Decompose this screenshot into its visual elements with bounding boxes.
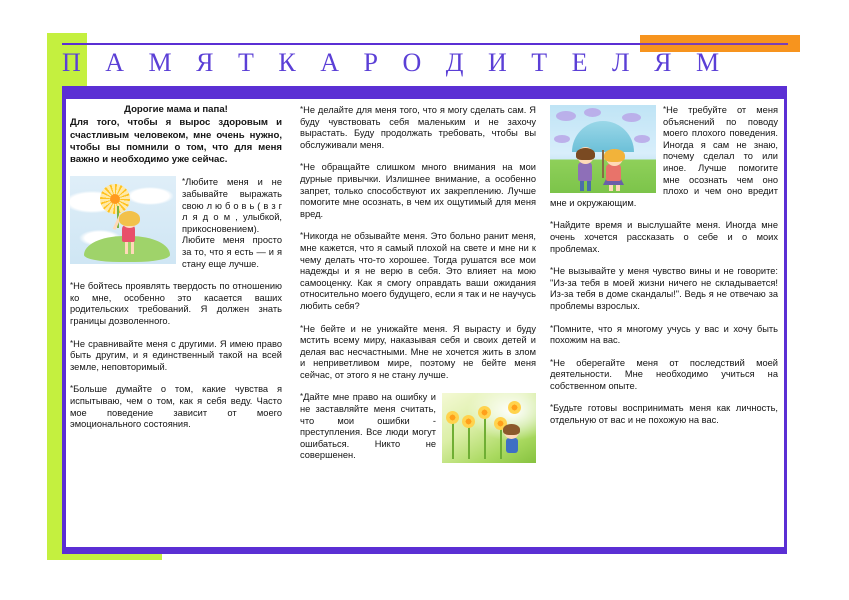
paragraph-text: Не вызывайте у меня чувство вины и не го… bbox=[550, 266, 778, 311]
paragraph: *Больше думайте о том, какие чувства я и… bbox=[70, 383, 282, 430]
paragraph: *Не обращайте слишком много внимания на … bbox=[300, 161, 536, 220]
paragraph-text: Не обращайте слишком много внимания на м… bbox=[300, 162, 536, 218]
document-page: П А М Я Т К А Р О Д И Т Е Л Я М Дорогие … bbox=[0, 0, 849, 600]
daffodil-stem-shape bbox=[468, 423, 470, 459]
paragraph-text: Не бейте и не унижайте меня. Я вырасту и… bbox=[300, 324, 536, 380]
daffodil-bloom-shape bbox=[446, 411, 459, 424]
daffodil-bloom-shape bbox=[462, 415, 475, 428]
column-one: Дорогие мама и папа! Для того, чтобы я в… bbox=[70, 104, 286, 548]
girl-body-shape bbox=[606, 164, 621, 181]
cloud-shape bbox=[622, 113, 641, 122]
paragraph: *Не бойтесь проявлять твердость по отнош… bbox=[70, 280, 282, 327]
paragraph-text: Найдите время и выслушайте меня. Иногда … bbox=[550, 220, 778, 253]
daffodil-bloom-shape bbox=[478, 406, 491, 419]
intro-lead: Дорогие мама и папа! bbox=[70, 104, 282, 116]
paragraph-text: Будьте готовы воспринимать меня как личн… bbox=[550, 403, 778, 425]
child-body-shape bbox=[506, 438, 518, 453]
content-columns: Дорогие мама и папа! Для того, чтобы я в… bbox=[70, 104, 782, 548]
child-hair-shape bbox=[503, 424, 520, 435]
paragraph: *Никогда не обзывайте меня. Это больно р… bbox=[300, 230, 536, 312]
paragraph: *Будьте готовы воспринимать меня как лич… bbox=[550, 402, 778, 426]
daffodil-stem-shape bbox=[500, 425, 502, 459]
daffodil-stem-shape bbox=[484, 415, 486, 459]
paragraph-text: Не делайте для меня того, что я могу сде… bbox=[300, 105, 536, 150]
paragraph-text: Любите меня и не забывайте выражать свою… bbox=[182, 177, 282, 268]
paragraph: *Не делайте для меня того, что я могу сд… bbox=[300, 104, 536, 151]
cloud-shape bbox=[554, 135, 570, 143]
children-under-umbrella-illustration bbox=[550, 105, 656, 193]
paragraph-text: Не бойтесь проявлять твердость по отноше… bbox=[70, 281, 282, 326]
boy-hair-shape bbox=[576, 148, 595, 160]
paragraph-text: Помните, что я многому учусь у вас и хоч… bbox=[550, 324, 778, 346]
column-two: *Не делайте для меня того, что я могу сд… bbox=[300, 104, 536, 548]
girl-hair-shape bbox=[604, 149, 625, 162]
paragraph: *Не оберегайте меня от последствий моей … bbox=[550, 357, 778, 393]
girl-body-shape bbox=[122, 225, 135, 242]
paragraph: *Не вызывайте у меня чувство вины и не г… bbox=[550, 265, 778, 312]
paragraph: *Не бейте и не унижайте меня. Я вырасту … bbox=[300, 323, 536, 382]
cloud-shape bbox=[634, 135, 650, 143]
girl-leg-right-shape bbox=[131, 241, 134, 254]
intro-paragraph: Дорогие мама и папа! Для того, чтобы я в… bbox=[70, 104, 282, 166]
daffodil-stem-shape bbox=[452, 419, 454, 459]
paragraph: *Помните, что я многому учусь у вас и хо… bbox=[550, 323, 778, 347]
orange-accent-line bbox=[640, 43, 788, 45]
girl-with-flower-illustration bbox=[70, 176, 176, 264]
boy-body-shape bbox=[578, 162, 592, 181]
paragraph-text: Больше думайте о том, какие чувства я ис… bbox=[70, 384, 282, 429]
paragraph-text: Не оберегайте меня от последствий моей д… bbox=[550, 358, 778, 391]
paragraph-text: Не сравнивайте меня с другими. Я имею пр… bbox=[70, 339, 282, 372]
cloud-shape bbox=[556, 111, 576, 121]
daffodils-with-child-illustration bbox=[442, 393, 536, 463]
page-title: П А М Я Т К А Р О Д И Т Е Л Я М bbox=[62, 48, 762, 78]
paragraph-text: Никогда не обзывайте меня. Это больно ра… bbox=[300, 231, 536, 311]
girl-leg-left-shape bbox=[125, 241, 128, 254]
paragraph: *Найдите время и выслушайте меня. Иногда… bbox=[550, 219, 778, 255]
paragraph: *Не сравнивайте меня с другими. Я имею п… bbox=[70, 338, 282, 374]
paragraph-text: Дайте мне право на ошибку и не заставляй… bbox=[300, 392, 436, 460]
daffodil-bloom-shape bbox=[508, 401, 521, 414]
column-three: *Не требуйте от меня объяснений по повод… bbox=[550, 104, 778, 548]
cloud-shape bbox=[584, 108, 601, 117]
girl-hair-shape bbox=[119, 211, 140, 226]
intro-body: Для того, чтобы я вырос здоровым и счаст… bbox=[70, 117, 282, 165]
